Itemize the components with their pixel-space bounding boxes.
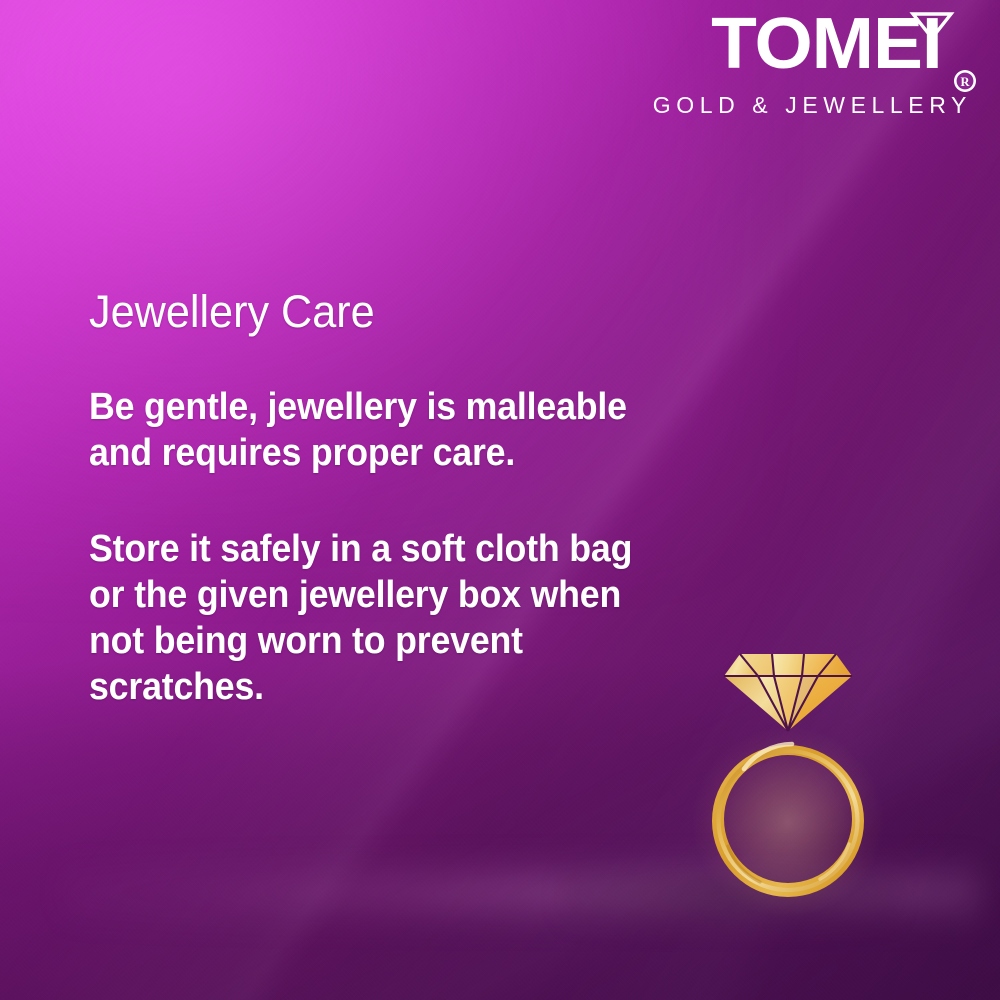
- svg-text:R: R: [960, 75, 970, 89]
- diamond-outline-icon: [904, 11, 960, 41]
- registered-trademark-icon: R: [952, 68, 978, 94]
- care-paragraph-2: Store it safely in a soft cloth bag or t…: [89, 526, 653, 710]
- copy-block: Jewellery Care Be gentle, jewellery is m…: [89, 286, 689, 710]
- care-paragraph-1: Be gentle, jewellery is malleable and re…: [89, 384, 653, 476]
- diamond-ring-illustration: [688, 636, 888, 921]
- tomei-logo[interactable]: TOMEI R GOLD & JEWELLERY: [648, 6, 978, 118]
- jewellery-care-poster: TOMEI R GOLD & JEWELLERY Jewellery Care …: [0, 0, 1000, 1000]
- page-title: Jewellery Care: [89, 286, 665, 338]
- brand-tagline: GOLD & JEWELLERY: [648, 92, 972, 118]
- logo-wordmark-row: TOMEI R: [648, 6, 978, 90]
